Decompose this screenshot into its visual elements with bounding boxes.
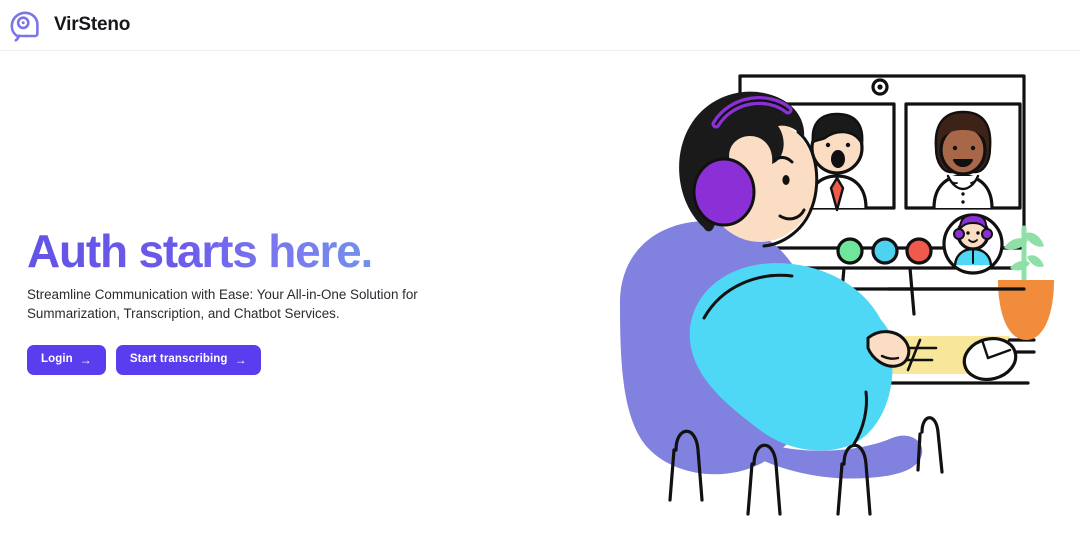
- headline-part-2: here.: [268, 225, 372, 277]
- cta-button-row: Login → Start transcribing →: [27, 345, 547, 375]
- virsteno-head-logo-icon: [8, 6, 46, 44]
- login-button-label: Login: [41, 354, 73, 366]
- headline-part-1: Auth starts: [27, 225, 268, 277]
- arrow-right-icon: →: [80, 354, 92, 366]
- site-header: VirSteno: [0, 0, 1080, 51]
- page-title: Auth starts here.: [27, 228, 547, 275]
- female-participant-tile: [906, 104, 1020, 208]
- green-control-button: [838, 239, 862, 263]
- hero-subtitle: Streamline Communication with Ease: Your…: [27, 285, 497, 323]
- red-control-button: [907, 239, 931, 263]
- cyan-control-button: [873, 239, 897, 263]
- video-call-workspace-illustration: [592, 52, 1080, 549]
- start-transcribing-button-label: Start transcribing: [130, 354, 228, 366]
- potted-plant: [998, 228, 1054, 340]
- hero-text-block: Auth starts here. Streamline Communicati…: [27, 228, 547, 375]
- self-view-avatar: [944, 215, 1002, 273]
- arrow-right-icon: →: [235, 354, 247, 366]
- brand-logo-link[interactable]: VirSteno: [0, 6, 130, 44]
- login-button[interactable]: Login →: [27, 345, 106, 375]
- brand-name: VirSteno: [54, 14, 130, 36]
- start-transcribing-button[interactable]: Start transcribing →: [116, 345, 261, 375]
- call-controls: [838, 239, 931, 263]
- landing-page: VirSteno Auth starts here. Streamline Co…: [0, 0, 1080, 549]
